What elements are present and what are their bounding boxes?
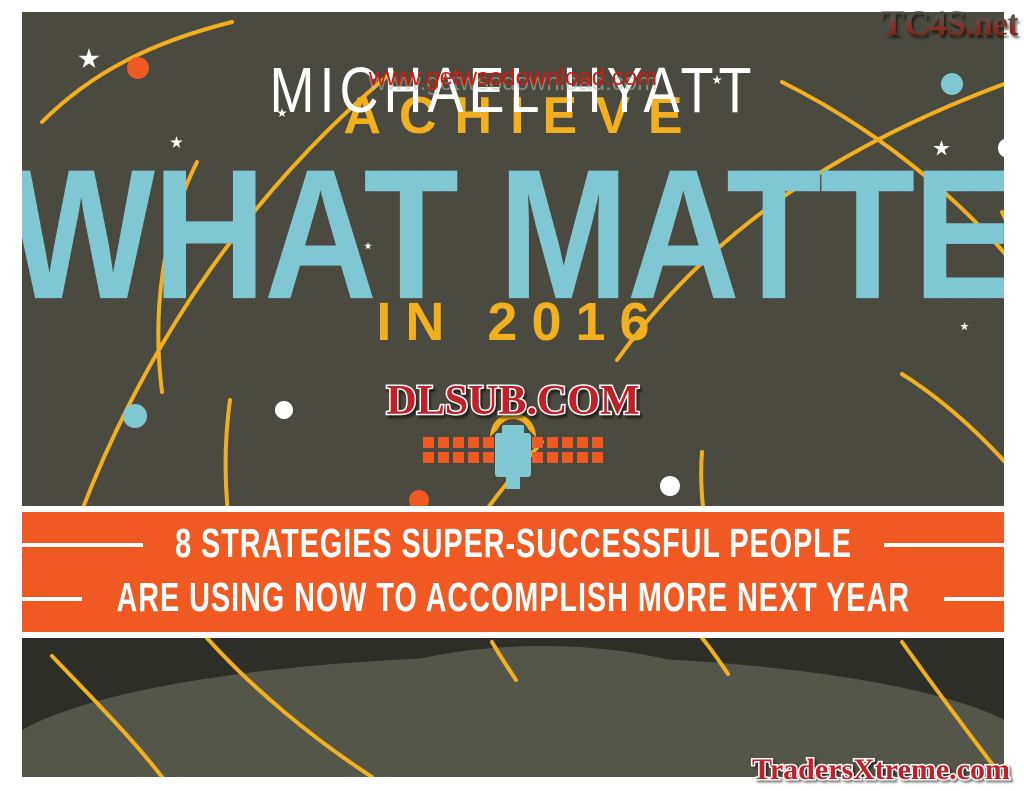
subtitle-banner: 8 STRATEGIES SUPER-SUCCESSFUL PEOPLE ARE… [22,506,1004,638]
year-text: IN 2016 [22,295,1004,349]
poster-page: ACHIEVE WHAT MATTERS IN 2016 8 STRATEGIE [0,0,1024,791]
satellite-foot [506,475,520,489]
satellite-body [495,433,531,477]
banner-rule-right-2 [944,597,1004,601]
poster-canvas: ACHIEVE WHAT MATTERS IN 2016 8 STRATEGIE [22,12,1004,777]
banner-line-2: ARE USING NOW TO ACCOMPLISH MORE NEXT YE… [22,580,1004,618]
solar-panel-left [423,437,494,463]
banner-line-1: 8 STRATEGIES SUPER-SUCCESSFUL PEOPLE [22,526,1004,564]
banner-rule-right [884,543,1004,547]
banner-rule-left [22,543,143,547]
watermark-dlsub: DLSUB.COM [22,377,1004,425]
banner-rule-left-2 [22,597,82,601]
author-name: MICHAEL HYATT [22,54,1004,127]
banner-text-line-1: 8 STRATEGIES SUPER-SUCCESSFUL PEOPLE [175,519,852,570]
solar-panel-right [532,437,603,463]
banner-text-line-2: ARE USING NOW TO ACCOMPLISH MORE NEXT YE… [116,573,909,624]
watermark-dlsub-text: DLSUB.COM [386,378,639,424]
satellite-icon [423,417,603,493]
watermark-tradersxtreme: TradersXtreme.com [752,753,1010,787]
watermark-tc4s: TC4S.net [881,2,1018,44]
